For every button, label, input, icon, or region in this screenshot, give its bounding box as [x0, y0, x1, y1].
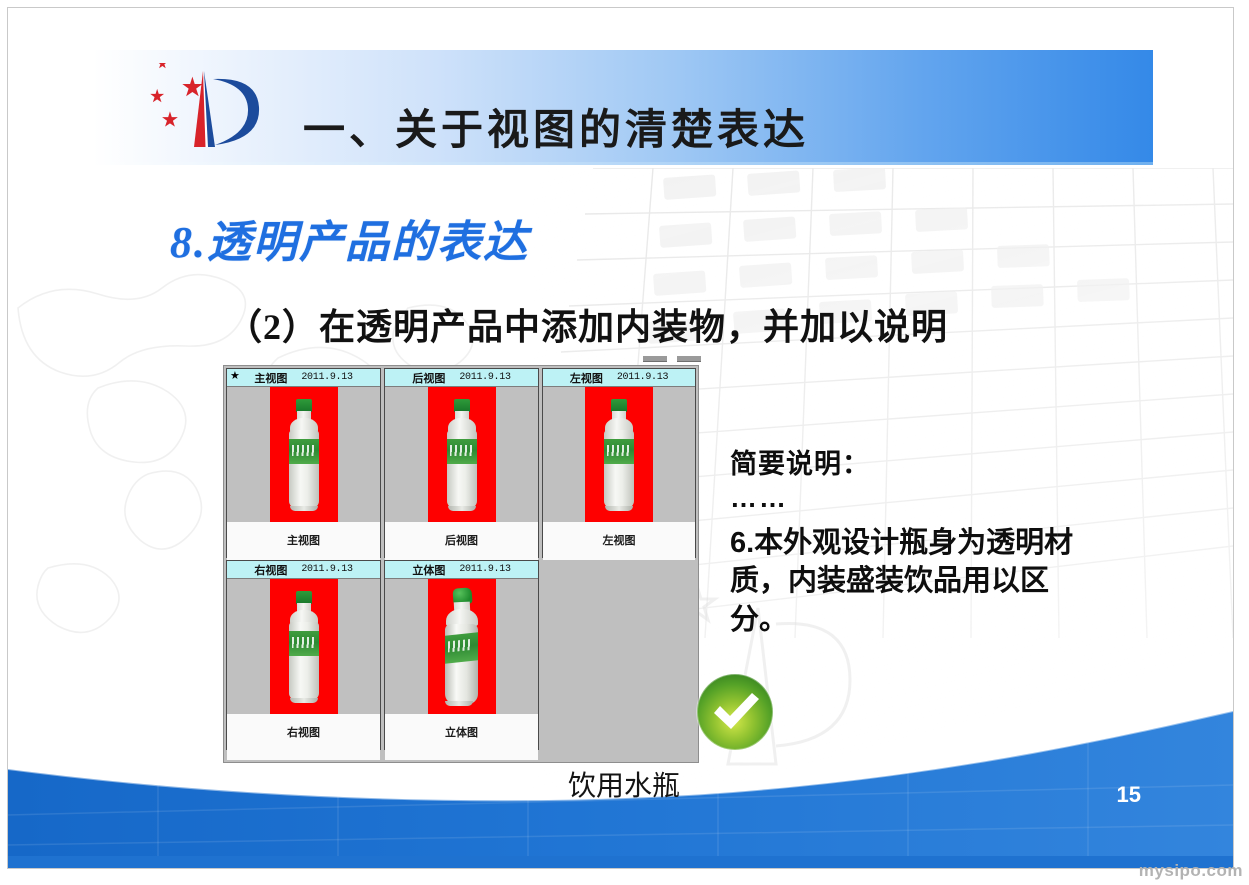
section-heading: 8.透明产品的表达 [170, 206, 529, 270]
bottle-back-view [442, 399, 482, 511]
red-plate [270, 579, 338, 714]
view-cell-header: 左视图 2011.9.13 [543, 369, 695, 387]
bottle-perspective-view [439, 588, 485, 706]
view-cell-front[interactable]: ★ 主视图 2011.9.13 [226, 368, 381, 558]
mini-tab-1 [643, 356, 667, 362]
view-cell-date: 2011.9.13 [301, 564, 352, 575]
view-cell-header: ★ 主视图 2011.9.13 [227, 369, 380, 387]
view-cell-title: 主视图 [254, 370, 287, 386]
view-cell-date: 2011.9.13 [301, 372, 352, 383]
view-cell-header: 后视图 2011.9.13 [385, 369, 538, 387]
view-cell-date: 2011.9.13 [617, 372, 668, 383]
slide-page: 一、关于视图的清楚表达 8.透明产品的表达 （2）在透明产品中添加内装物，并加以… [8, 8, 1233, 868]
red-plate [270, 387, 338, 522]
bottle-base [448, 506, 476, 511]
slide-root: 一、关于视图的清楚表达 8.透明产品的表达 （2）在透明产品中添加内装物，并加以… [0, 0, 1249, 885]
explanation-block: 简要说明： …… 6.本外观设计瓶身为透明材质，内装盛装饮品用以区分。 [730, 442, 1090, 639]
red-plate [428, 579, 496, 714]
mini-tab-group [643, 356, 703, 364]
bottle-label [447, 439, 477, 464]
view-cell-image [385, 387, 538, 522]
view-cell-right[interactable]: 右视图 2011.9.13 右视图 [226, 560, 381, 750]
view-grid: ★ 主视图 2011.9.13 [224, 366, 698, 762]
view-cell-empty [542, 560, 696, 750]
view-cell-left[interactable]: 左视图 2011.9.13 左视图 [542, 368, 696, 558]
bottle-front-view [284, 399, 324, 511]
view-cell-title: 立体图 [412, 562, 445, 578]
view-cell-iso[interactable]: 立体图 2011.9.13 立体图 [384, 560, 539, 750]
sipo-logo-icon [141, 63, 269, 155]
bottle-base [290, 506, 318, 511]
bottle-label [445, 632, 478, 663]
star-icon: ★ [230, 371, 240, 382]
sub-heading: （2）在透明产品中添加内装物，并加以说明 [226, 298, 948, 350]
bottle-base [605, 506, 633, 511]
explanation-ellipsis: …… [730, 485, 1090, 512]
bottle-left-view [599, 399, 639, 511]
bottle-label [604, 439, 634, 464]
view-cell-title: 右视图 [254, 562, 287, 578]
mini-tab-2 [677, 356, 701, 362]
view-cell-header: 立体图 2011.9.13 [385, 561, 538, 579]
bottle-shoulder [446, 609, 478, 626]
view-cell-date: 2011.9.13 [459, 372, 510, 383]
view-cell-header: 右视图 2011.9.13 [227, 561, 380, 579]
explanation-item: 6.本外观设计瓶身为透明材质，内装盛装饮品用以区分。 [730, 524, 1090, 639]
view-cell-back[interactable]: 后视图 2011.9.13 后视图 [384, 368, 539, 558]
view-cell-title: 左视图 [570, 370, 603, 386]
view-cell-caption: 立体图 [385, 714, 538, 760]
view-cell-date: 2011.9.13 [459, 564, 510, 575]
red-plate [585, 387, 653, 522]
site-watermark: mysipo.com [1139, 861, 1243, 881]
view-cell-image [227, 579, 380, 714]
bottle-label [289, 631, 319, 656]
view-cell-image [227, 387, 380, 522]
view-cell-image [385, 579, 538, 714]
view-cell-image [543, 387, 695, 522]
bottom-caption: 饮用水瓶 [568, 764, 680, 804]
page-number: 15 [1117, 782, 1141, 808]
page-title: 一、关于视图的清楚表达 [303, 96, 809, 157]
bottle-base [445, 701, 473, 706]
bottle-label [289, 439, 319, 464]
view-cell-title: 后视图 [412, 370, 445, 386]
bottle-base [290, 698, 318, 703]
explanation-title: 简要说明： [730, 442, 1090, 481]
view-cell-caption: 右视图 [227, 714, 380, 760]
bottle-right-view [284, 591, 324, 703]
red-plate [428, 387, 496, 522]
check-circle-icon [694, 671, 776, 753]
